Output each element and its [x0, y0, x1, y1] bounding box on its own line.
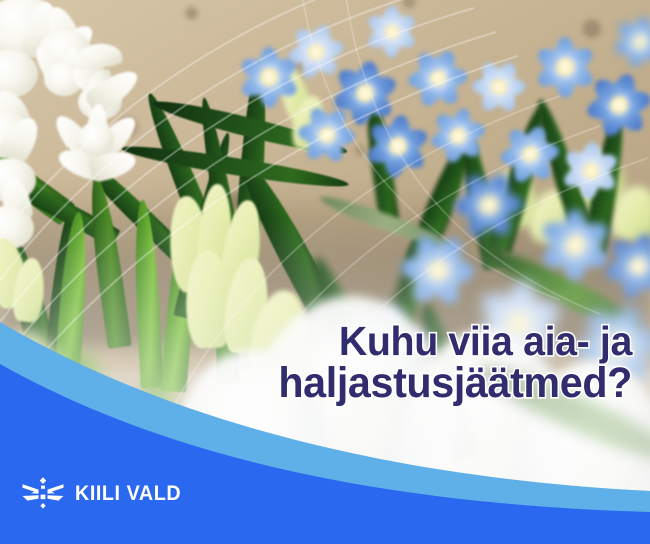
headline-line-2: haljastusjäätmed? — [25, 363, 632, 404]
blue-flower — [406, 46, 470, 110]
kiili-vald-banner: Kuhu viia aia- ja haljastusjäätmed? — [0, 0, 650, 544]
blue-flower — [470, 58, 528, 116]
blue-flower — [364, 112, 432, 180]
blue-flower — [602, 230, 650, 302]
hyacinth-floret — [78, 122, 114, 156]
blue-flower — [612, 14, 650, 70]
blue-flower — [560, 140, 622, 202]
blue-flower — [398, 230, 478, 310]
headline: Kuhu viia aia- ja haljastusjäätmed? — [0, 322, 632, 406]
logo-text: KIILI VALD — [75, 482, 181, 506]
logo[interactable]: KIILI VALD — [22, 476, 188, 512]
background-photo — [0, 0, 650, 544]
headline-line-1: Kuhu viia aia- ja — [25, 322, 632, 361]
kiili-dragonfly-emblem-icon — [22, 476, 64, 512]
blue-flower — [296, 104, 358, 166]
blue-flower — [584, 70, 650, 140]
